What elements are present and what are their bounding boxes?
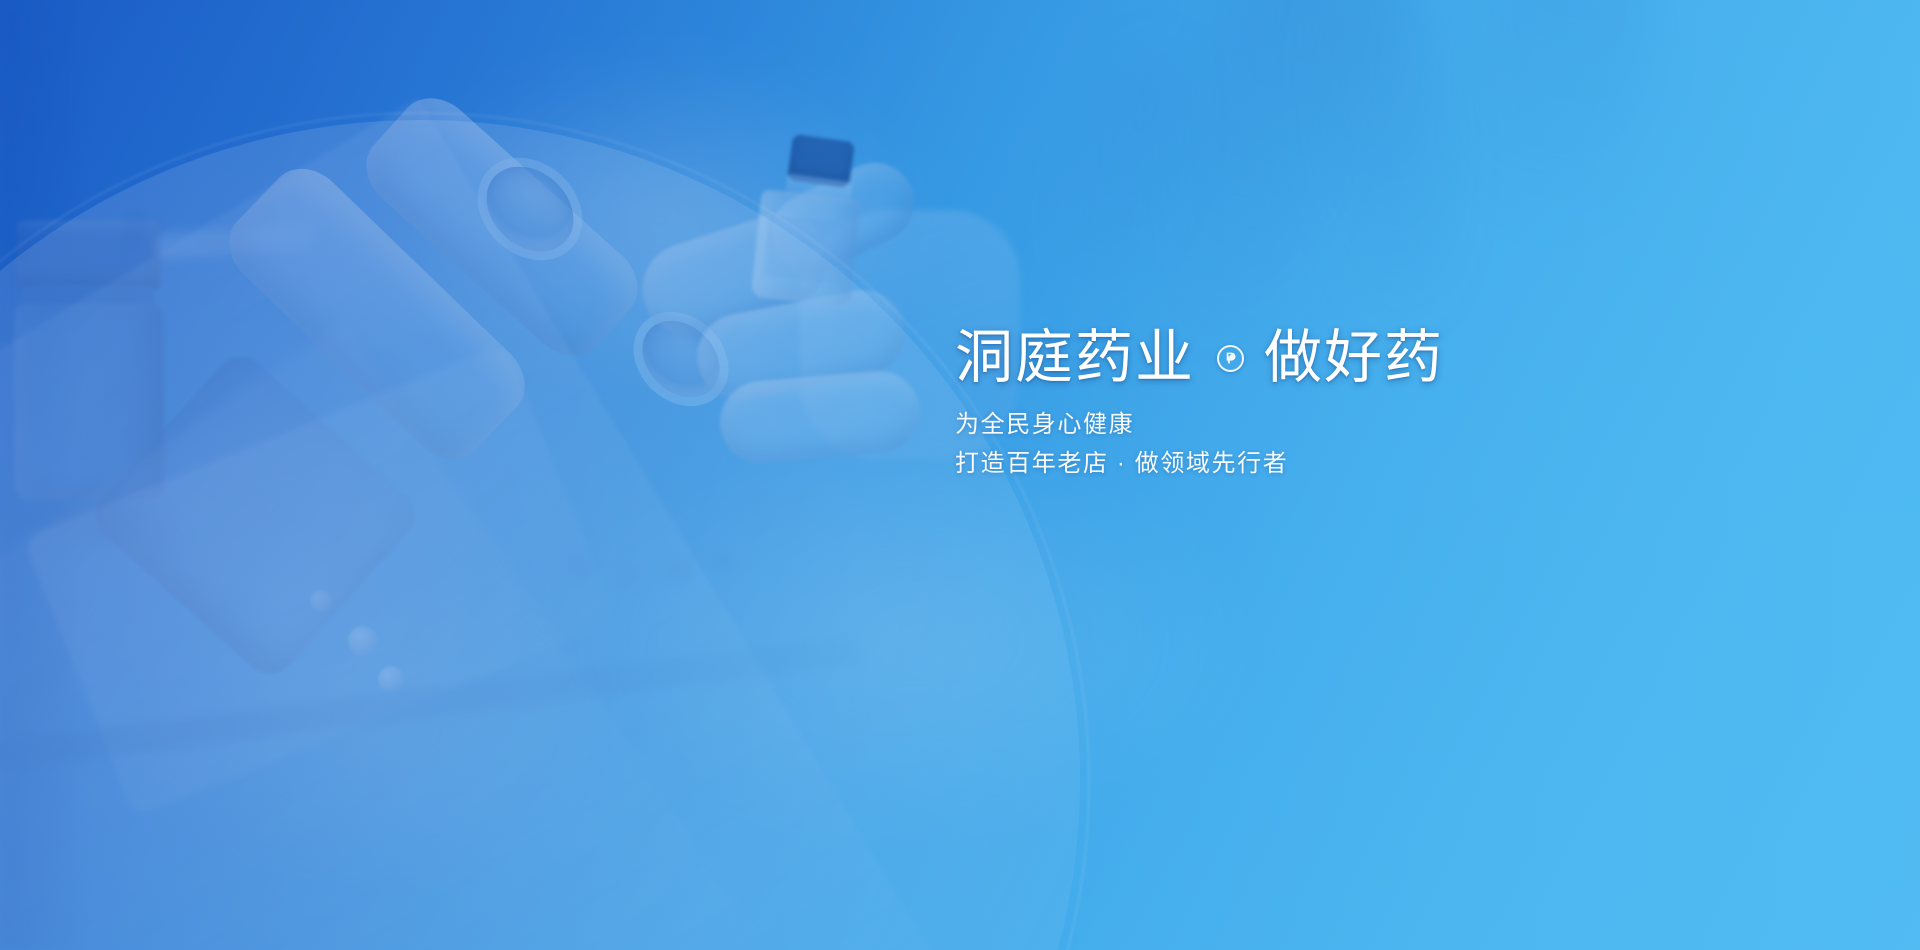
dongting-circle-logo-icon <box>1217 345 1244 372</box>
hero-headline-part1: 洞庭药业 <box>955 328 1195 388</box>
hero-banner: 洞庭药业 做好药 为全民身心健康 打造百年老店 · 做领域先行者 <box>0 0 1920 950</box>
hero-subtitle: 为全民身心健康 打造百年老店 · 做领域先行者 <box>955 406 1715 484</box>
hero-headline: 洞庭药业 做好药 <box>955 328 1715 388</box>
hero-headline-part2: 做好药 <box>1264 328 1444 388</box>
hero-subtitle-line2: 打造百年老店 · 做领域先行者 <box>955 445 1715 484</box>
hero-copy: 洞庭药业 做好药 为全民身心健康 打造百年老店 · 做领域先行者 <box>955 328 1715 484</box>
hero-subtitle-line1: 为全民身心健康 <box>955 406 1715 445</box>
